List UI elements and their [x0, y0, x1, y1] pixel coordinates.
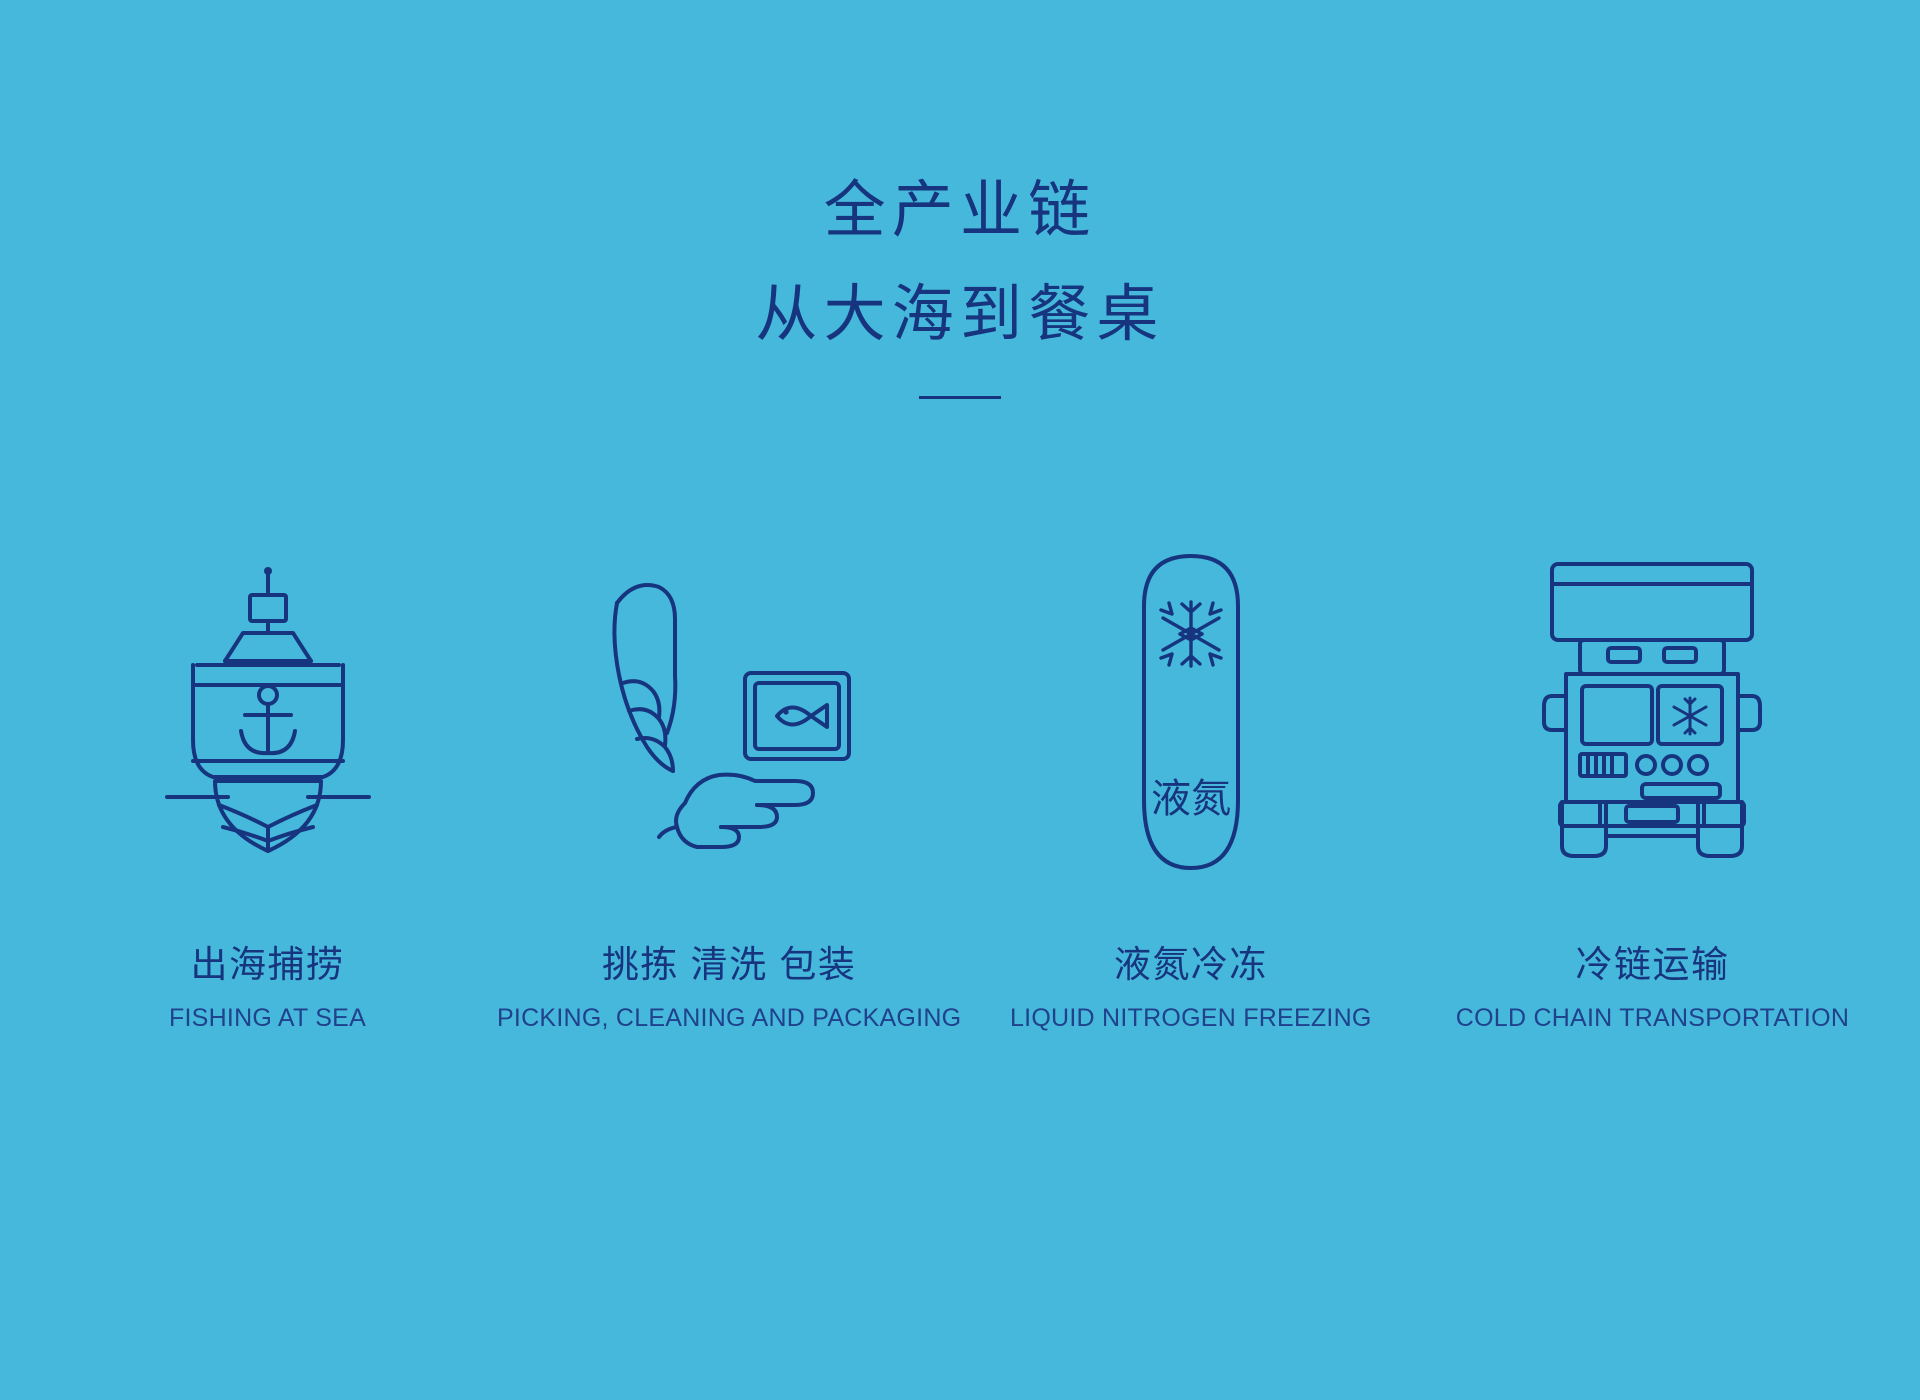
- step-label-en-fishing: FISHING AT SEA: [169, 1004, 366, 1033]
- title-divider: [919, 396, 1001, 399]
- step-label-cn-fishing: 出海捕捞: [191, 934, 345, 988]
- step-label-en-picking: PICKING, CLEANING AND PACKAGING: [497, 1004, 961, 1033]
- hands-sorting-icon-box: [589, 520, 869, 910]
- step-label-cn-picking: 挑拣 清洗 包装: [602, 934, 856, 988]
- step-label-en-coldchain: COLD CHAIN TRANSPORTATION: [1456, 1004, 1849, 1033]
- step-fishing-at-sea: 出海捕捞 FISHING AT SEA: [40, 520, 495, 1033]
- liquid-nitrogen-icon-box: 液氮: [1116, 520, 1266, 910]
- process-steps: 出海捕捞 FISHING AT SEA: [0, 520, 1920, 1033]
- header: 全产业链 从大海到餐桌: [0, 180, 1920, 399]
- title-divider-wrap: [0, 396, 1920, 399]
- step-label-en-nitrogen: LIQUID NITROGEN FREEZING: [1010, 1004, 1372, 1033]
- refrigerated-truck-icon-box: [1522, 520, 1782, 910]
- capsule-text: 液氮: [1151, 777, 1231, 821]
- fishing-boat-icon: [153, 565, 383, 865]
- step-cold-chain-transportation: 冷链运输 COLD CHAIN TRANSPORTATION: [1425, 520, 1880, 1033]
- hands-sorting-fish-packet-icon: [589, 565, 869, 865]
- fishing-boat-icon-box: [153, 520, 383, 910]
- page-title-line-2: 从大海到餐桌: [0, 284, 1920, 346]
- snowflake-icon: [1161, 602, 1221, 666]
- page-title-line-1: 全产业链: [0, 180, 1920, 242]
- truck-snowflake-icon: [1674, 698, 1706, 734]
- refrigerated-truck-icon: [1522, 550, 1782, 880]
- step-liquid-nitrogen-freezing: 液氮 液氮冷冻 LIQUID NITROGEN FREEZING: [963, 520, 1418, 1033]
- step-label-cn-coldchain: 冷链运输: [1576, 934, 1730, 988]
- step-label-cn-nitrogen: 液氮冷冻: [1114, 934, 1268, 988]
- liquid-nitrogen-capsule-icon: 液氮: [1116, 550, 1266, 880]
- infographic-poster: 全产业链 从大海到餐桌: [0, 0, 1920, 1400]
- step-picking-cleaning-packaging: 挑拣 清洗 包装 PICKING, CLEANING AND PACKAGING: [502, 520, 957, 1033]
